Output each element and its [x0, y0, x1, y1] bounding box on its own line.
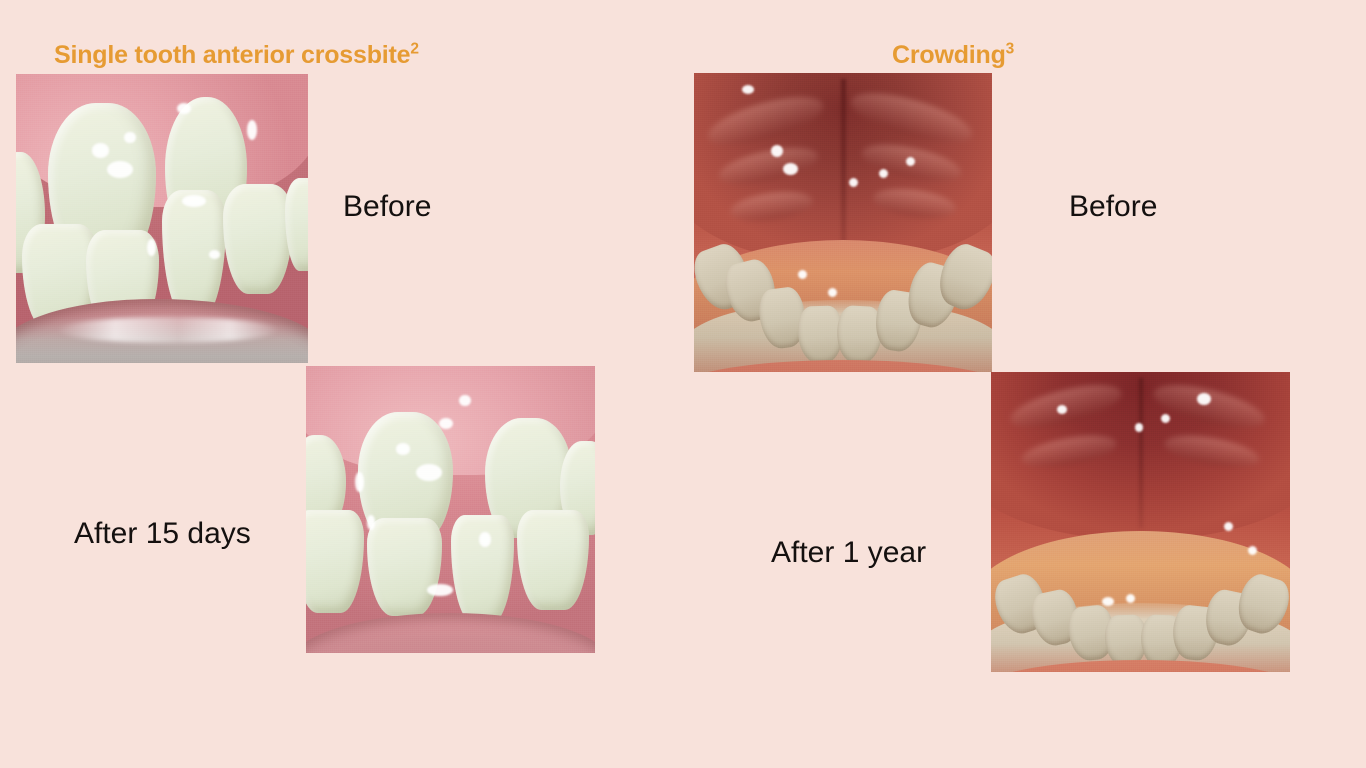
photo-crowding-before-canvas — [694, 73, 992, 372]
photo-crowding-before — [694, 73, 992, 372]
photo-crossbite-before-canvas — [16, 74, 308, 363]
photo-crossbite-after-canvas — [306, 366, 595, 653]
case-title-crossbite: Single tooth anterior crossbite2 — [54, 43, 419, 68]
case-title-crowding-superscript: 3 — [1006, 40, 1014, 57]
case-title-crossbite-superscript: 2 — [410, 40, 418, 57]
photo-crowding-after-canvas — [991, 372, 1290, 672]
stage-label-crossbite-before: Before — [343, 192, 431, 222]
stage-label-crowding-before: Before — [1069, 192, 1157, 222]
case-title-crowding-text: Crowding — [892, 41, 1006, 69]
case-title-crossbite-text: Single tooth anterior crossbite — [54, 41, 410, 69]
photo-crossbite-before — [16, 74, 308, 363]
photo-crossbite-after — [306, 366, 595, 653]
stage-label-crossbite-after: After 15 days — [74, 519, 251, 549]
photo-crowding-after — [991, 372, 1290, 672]
case-title-crowding: Crowding3 — [892, 43, 1014, 68]
stage-label-crowding-after: After 1 year — [771, 538, 926, 568]
slide-canvas: Single tooth anterior crossbite2 — [0, 0, 1366, 768]
